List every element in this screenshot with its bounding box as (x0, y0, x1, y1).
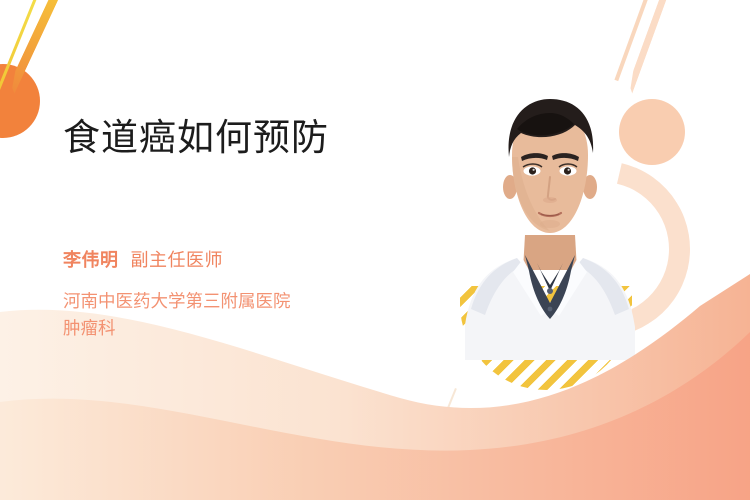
diagonal-stripe-yellow-icon (0, 0, 41, 110)
diagonal-stripe-peach-b-icon (626, 0, 671, 94)
speaker-byline: 李伟明副主任医师 (63, 250, 223, 272)
orange-circle-decoration (0, 64, 40, 138)
speaker-name: 李伟明 (63, 250, 119, 270)
speaker-role: 副主任医师 (131, 250, 224, 270)
health-education-card: 食道癌如何预防 李伟明副主任医师 河南中医药大学第三附属医院 肿瘤科 (0, 0, 750, 500)
speaker-affiliation: 河南中医药大学第三附属医院 肿瘤科 (63, 288, 393, 341)
speaker-department: 肿瘤科 (63, 315, 393, 342)
speaker-hospital: 河南中医药大学第三附属医院 (63, 288, 393, 315)
diagonal-stripe-peach-a-icon (614, 0, 653, 81)
page-title: 食道癌如何预防 (63, 117, 329, 160)
diagonal-stripe-orange-icon (6, 0, 60, 94)
